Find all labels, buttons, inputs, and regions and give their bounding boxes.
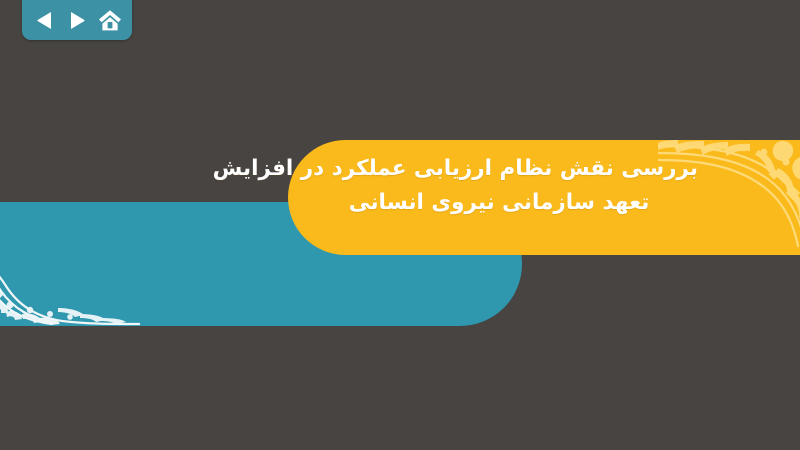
home-button[interactable]	[97, 7, 123, 33]
arabesque-corner-ornament	[658, 140, 800, 255]
arabesque-corner-ornament	[0, 202, 140, 326]
slide-canvas: بررسی نقش نظام ارزیابی عملکرد در افزایش …	[0, 0, 800, 450]
previous-slide-button[interactable]	[31, 7, 57, 33]
triangle-left-icon	[36, 11, 53, 30]
next-slide-button[interactable]	[64, 7, 90, 33]
slide-navigation-bar	[22, 0, 132, 40]
title-banner	[288, 140, 800, 255]
triangle-right-icon	[69, 11, 86, 30]
home-icon	[98, 9, 122, 32]
